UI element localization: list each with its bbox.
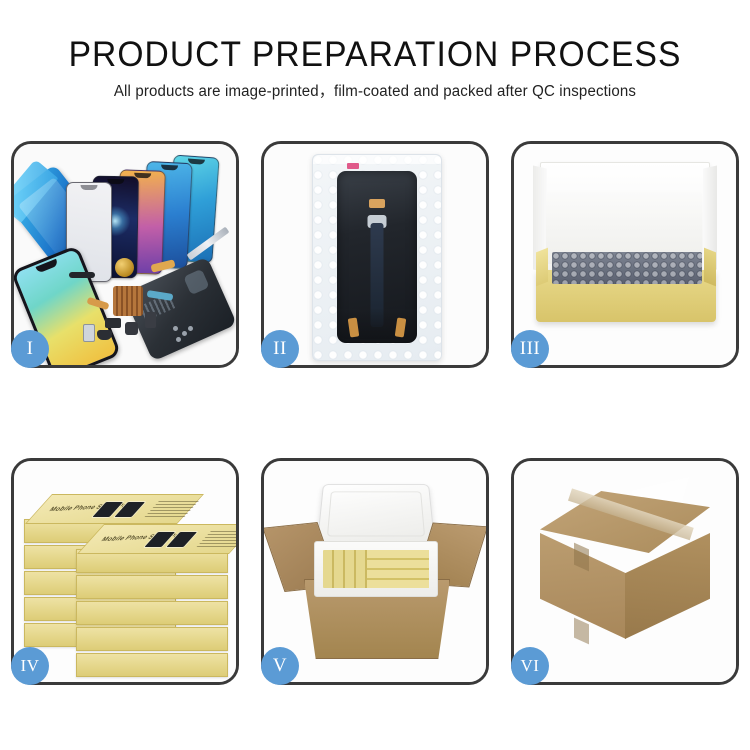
bubble-wrap-bag-icon xyxy=(312,154,442,361)
step-badge-2: II xyxy=(261,330,299,368)
step-image-4: Mobile Phone Spare Parts xyxy=(14,461,236,682)
page-subtitle: All products are image-printed，film-coat… xyxy=(11,76,739,102)
step-badge-3: III xyxy=(511,330,549,368)
step-image-3 xyxy=(514,144,736,365)
step-badge-1: I xyxy=(11,330,49,368)
step-image-6 xyxy=(514,461,736,682)
step-card-5[interactable]: V xyxy=(261,458,489,685)
spare-parts-cluster-icon xyxy=(69,256,189,351)
step-card-4[interactable]: Mobile Phone Spare Parts xyxy=(11,458,239,685)
lcd-screen-icon xyxy=(337,171,417,343)
tape-tab-lower-icon xyxy=(574,618,589,645)
foam-box-icon xyxy=(314,541,438,597)
step-card-6[interactable]: VI xyxy=(511,458,739,685)
step-image-5 xyxy=(264,461,486,682)
step-image-1 xyxy=(14,144,236,365)
step-card-2[interactable]: II xyxy=(261,141,489,368)
bubble-wrapped-product-icon xyxy=(552,252,702,284)
page-title: PRODUCT PREPARATION PROCESS xyxy=(15,0,735,76)
steps-grid: I II xyxy=(11,141,739,685)
product-preparation-infographic: PRODUCT PREPARATION PROCESS All products… xyxy=(0,0,750,750)
screws-icon xyxy=(173,326,195,342)
step-image-2 xyxy=(264,144,486,365)
header: PRODUCT PREPARATION PROCESS All products… xyxy=(0,0,750,102)
step-card-1[interactable]: I xyxy=(11,141,239,368)
step-badge-6: VI xyxy=(511,647,549,685)
yellow-tray-icon xyxy=(536,270,716,322)
step-badge-5: V xyxy=(261,647,299,685)
foam-lid-icon xyxy=(317,484,436,545)
step-card-3[interactable]: III xyxy=(511,141,739,368)
box-stack-icon: Mobile Phone Spare Parts xyxy=(20,475,236,675)
step-badge-4: IV xyxy=(11,647,49,685)
